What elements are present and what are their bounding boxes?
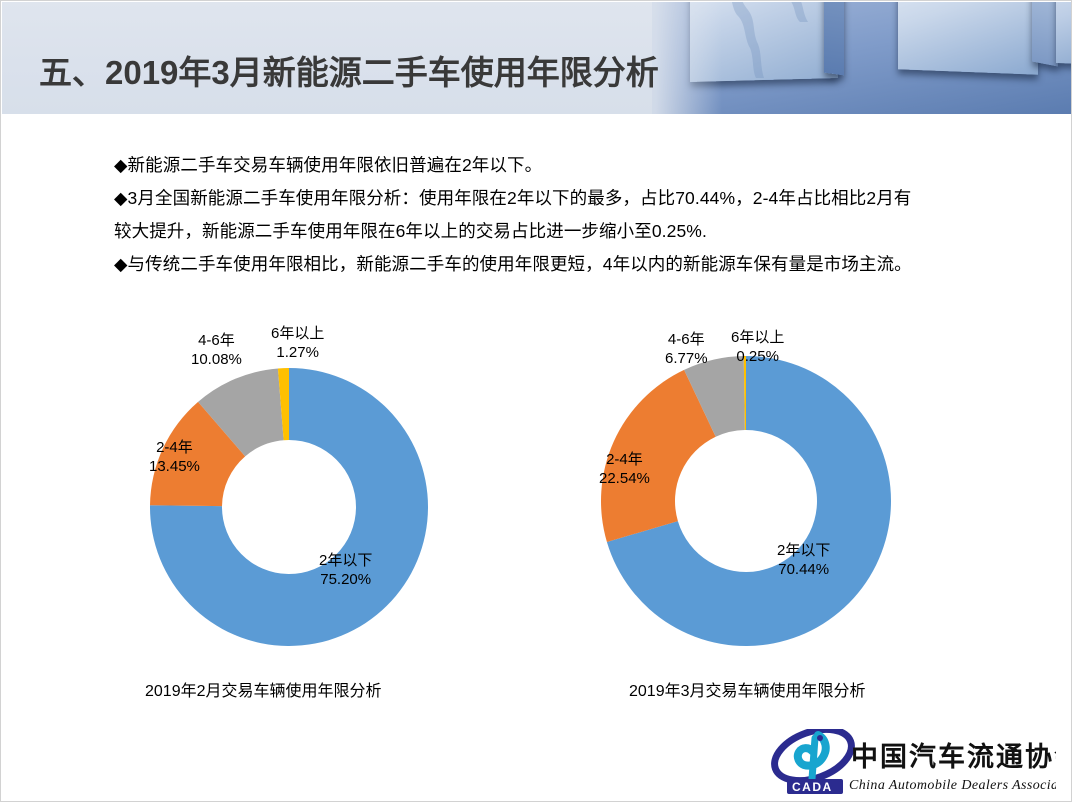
doughnut-chart-mar-svg (579, 319, 939, 659)
pie-label-name: 2年以下 (319, 551, 372, 570)
pie-label-mar-6年以上: 6年以上 0.25% (731, 328, 784, 366)
chart-caption-mar: 2019年3月交易车辆使用年限分析 (629, 677, 866, 701)
page-title: 五、2019年3月新能源二手车使用年限分析 (39, 46, 659, 94)
pie-label-name: 2年以下 (777, 541, 830, 560)
logo-dot (817, 735, 823, 741)
cada-logo: CADA 中国汽车流通协会 China Automobile Dealers A… (771, 729, 1056, 797)
logo-name-en: China Automobile Dealers Association (849, 778, 1056, 793)
pie-label-value: 0.25% (731, 347, 784, 366)
pie-label-name: 2-4年 (149, 438, 200, 457)
header-decoration-image (652, 2, 1072, 114)
logo-name-cn: 中国汽车流通协会 (851, 741, 1056, 772)
pie-label-value: 75.20% (319, 570, 372, 589)
pie-label-value: 70.44% (777, 560, 830, 579)
decorative-cube-side (1032, 2, 1058, 67)
pie-label-feb-2年以下: 2年以下 75.20% (319, 551, 372, 589)
bullet-item-3: ◆与传统二手车使用年限相比，新能源二手车的使用年限更短，4年以内的新能源车保有量… (114, 248, 994, 281)
pie-label-feb-2-4年: 2-4年 13.45% (149, 438, 200, 476)
logo-stem (812, 738, 815, 779)
chart-caption-feb: 2019年2月交易车辆使用年限分析 (145, 677, 382, 701)
pie-label-value: 13.45% (149, 457, 200, 476)
doughnut-chart-mar: 2年以下 70.44% 2-4年 22.54% 4-6年 6.77% 6年以上 … (579, 319, 939, 659)
pie-label-name: 4-6年 (191, 331, 242, 350)
bullet-item-1: ◆新能源二手车交易车辆使用年限依旧普遍在2年以下。 (114, 149, 994, 182)
slide: 五、2019年3月新能源二手车使用年限分析 ◆新能源二手车交易车辆使用年限依旧普… (0, 0, 1072, 802)
pie-label-value: 10.08% (191, 350, 242, 369)
pie-label-feb-6年以上: 6年以上 1.27% (271, 324, 324, 362)
pie-label-value: 6.77% (665, 349, 708, 368)
pie-label-feb-4-6年: 4-6年 10.08% (191, 331, 242, 369)
bullet-item-2-cont: 较大提升，新能源二手车使用年限在6年以上的交易占比进一步缩小至0.25%. (114, 215, 994, 248)
doughnut-chart-feb: 2年以下 75.20% 2-4年 13.45% 4-6年 10.08% 6年以上… (119, 319, 479, 659)
decorative-cube-side (824, 2, 844, 75)
globe-map-icon (704, 2, 824, 80)
bullet-list: ◆新能源二手车交易车辆使用年限依旧普遍在2年以下。 ◆3月全国新能源二手车使用年… (114, 149, 994, 281)
pie-label-value: 22.54% (599, 469, 650, 488)
pie-label-mar-2-4年: 2-4年 22.54% (599, 450, 650, 488)
pie-label-name: 4-6年 (665, 330, 708, 349)
decorative-cube (898, 2, 1038, 75)
pie-label-mar-4-6年: 4-6年 6.77% (665, 330, 708, 368)
pie-label-mar-2年以下: 2年以下 70.44% (777, 541, 830, 579)
decorative-cube (1056, 2, 1072, 65)
cada-logo-svg: CADA 中国汽车流通协会 China Automobile Dealers A… (771, 729, 1056, 797)
pie-label-name: 6年以上 (271, 324, 324, 343)
pie-label-value: 1.27% (271, 343, 324, 362)
doughnut-chart-feb-svg (119, 319, 479, 659)
logo-acronym: CADA (792, 780, 833, 794)
bullet-item-2: ◆3月全国新能源二手车使用年限分析：使用年限在2年以下的最多，占比70.44%，… (114, 182, 994, 215)
slide-header: 五、2019年3月新能源二手车使用年限分析 (2, 2, 1072, 114)
pie-label-name: 2-4年 (599, 450, 650, 469)
pie-label-name: 6年以上 (731, 328, 784, 347)
